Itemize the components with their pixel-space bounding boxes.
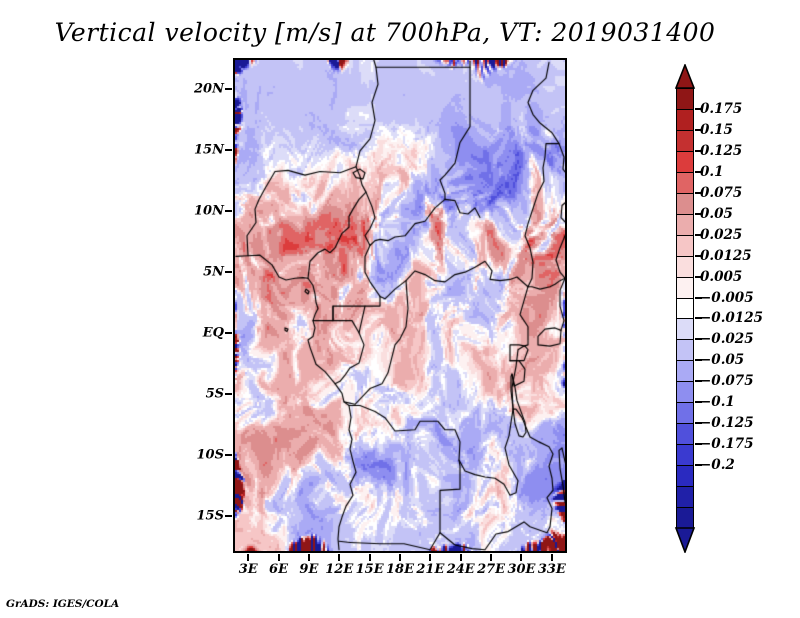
colorbar-tick-mark [695, 338, 702, 340]
colorbar-band [676, 298, 694, 320]
x-axis-tick-mark [369, 554, 371, 561]
x-axis-tick-label: 33E [538, 562, 566, 577]
colorbar-tick-mark [695, 359, 702, 361]
x-axis-tick-mark [247, 554, 249, 561]
colorbar-tick-mark [695, 150, 702, 152]
colorbar-tick-mark [695, 464, 702, 466]
y-axis-tick-label: 20N [194, 81, 224, 96]
colorbar-tick-label: 0.125 [700, 143, 742, 159]
page-title: Vertical velocity [m/s] at 700hPa, VT: 2… [0, 18, 770, 47]
colorbar-band [676, 193, 694, 215]
x-axis-tick-mark [308, 554, 310, 561]
x-axis-tick-mark [520, 554, 522, 561]
colorbar-tick-label: 0.005 [700, 269, 742, 285]
x-axis-tick-label: 15E [356, 562, 384, 577]
colorbar-band [676, 130, 694, 152]
x-axis-tick-mark [551, 554, 553, 561]
y-axis-tick-mark [225, 88, 232, 90]
colorbar-tick-label: −0.075 [700, 373, 754, 389]
colorbar-tick-mark [695, 276, 702, 278]
x-axis-tick-label: 24E [447, 562, 475, 577]
colorbar-tick-mark [695, 255, 702, 257]
colorbar-band [676, 151, 694, 173]
x-axis-tick-label: 21E [416, 562, 444, 577]
x-axis-tick-label: 9E [299, 562, 318, 577]
colorbar-tick-mark [695, 192, 702, 194]
y-axis-tick-label: EQ [203, 326, 224, 341]
x-axis-tick-label: 27E [477, 562, 505, 577]
colorbar-tick-mark [695, 297, 702, 299]
colorbar-tick-mark [695, 129, 702, 131]
colorbar-tick-label: 0.175 [700, 101, 742, 117]
colorbar-band [676, 172, 694, 194]
colorbar-tick-label: −0.1 [700, 394, 735, 410]
colorbar-tick-mark [695, 108, 702, 110]
colorbar-band [676, 339, 694, 361]
colorbar-tick-label: −0.125 [700, 415, 754, 431]
colorbar-tick-mark [695, 317, 702, 319]
y-axis-tick-label: 10S [197, 448, 224, 463]
y-axis-tick-label: 15S [197, 509, 224, 524]
y-axis-tick-label: 10N [194, 203, 224, 218]
colorbar-tick-label: −0.05 [700, 352, 744, 368]
colorbar-tick-mark [695, 213, 702, 215]
colorbar-tick-label: 0.025 [700, 227, 742, 243]
colorbar-min-arrow [674, 527, 696, 551]
y-axis-tick-mark [225, 149, 232, 151]
colorbar-band [676, 256, 694, 278]
y-axis-tick-label: 15N [194, 142, 224, 157]
x-axis-tick-mark [338, 554, 340, 561]
colorbar-tick-label: −0.175 [700, 436, 754, 452]
y-axis-tick-label: 5S [206, 387, 224, 402]
colorbar-tick-label: 0.05 [700, 206, 733, 222]
colorbar-band [676, 109, 694, 131]
colorbar-tick-label: −0.0125 [700, 310, 763, 326]
x-axis-tick-mark [490, 554, 492, 561]
map-axes: 20N15N10N5NEQ5S10S15S3E6E9E12E15E18E21E2… [233, 58, 567, 553]
colorbar-tick-label: −0.025 [700, 331, 754, 347]
colorbar-tick-mark [695, 234, 702, 236]
colorbar-band [676, 381, 694, 403]
x-axis-tick-label: 6E [269, 562, 288, 577]
x-axis-tick-mark [429, 554, 431, 561]
colorbar: 0.1750.150.1250.10.0750.050.0250.01250.0… [674, 64, 696, 552]
x-axis-tick-label: 3E [239, 562, 258, 577]
colorbar-band [676, 444, 694, 466]
colorbar-tick-mark [695, 443, 702, 445]
y-axis-tick-label: 5N [203, 264, 224, 279]
colorbar-band [676, 423, 694, 445]
x-axis-tick-mark [399, 554, 401, 561]
colorbar-tick-label: 0.15 [700, 122, 733, 138]
colorbar-tick-label: −0.005 [700, 290, 754, 306]
x-axis-tick-label: 30E [507, 562, 535, 577]
colorbar-band [676, 486, 694, 508]
colorbar-tick-mark [695, 401, 702, 403]
x-axis-tick-label: 12E [325, 562, 353, 577]
colorbar-band [676, 88, 694, 110]
colorbar-band [676, 360, 694, 382]
x-axis-tick-label: 18E [386, 562, 414, 577]
colorbar-tick-label: 0.1 [700, 164, 724, 180]
colorbar-max-arrow [674, 64, 696, 88]
colorbar-tick-mark [695, 380, 702, 382]
colorbar-band [676, 214, 694, 236]
colorbar-tick-mark [695, 422, 702, 424]
colorbar-band [676, 277, 694, 299]
y-axis-tick-mark [225, 271, 232, 273]
colorbar-band [676, 402, 694, 424]
colorbar-tick-label: 0.075 [700, 185, 742, 201]
y-axis-tick-mark [225, 515, 232, 517]
x-axis-tick-mark [460, 554, 462, 561]
colorbar-band [676, 235, 694, 257]
colorbar-band [676, 318, 694, 340]
y-axis-tick-mark [225, 332, 232, 334]
y-axis-tick-mark [225, 210, 232, 212]
colorbar-tick-label: 0.0125 [700, 248, 752, 264]
y-axis-tick-mark [225, 393, 232, 395]
colorbar-band [676, 465, 694, 487]
colorbar-tick-mark [695, 171, 702, 173]
colorbar-tick-label: −0.2 [700, 457, 735, 473]
x-axis-tick-mark [278, 554, 280, 561]
grads-credit: GrADS: IGES/COLA [6, 598, 119, 610]
y-axis-tick-mark [225, 454, 232, 456]
